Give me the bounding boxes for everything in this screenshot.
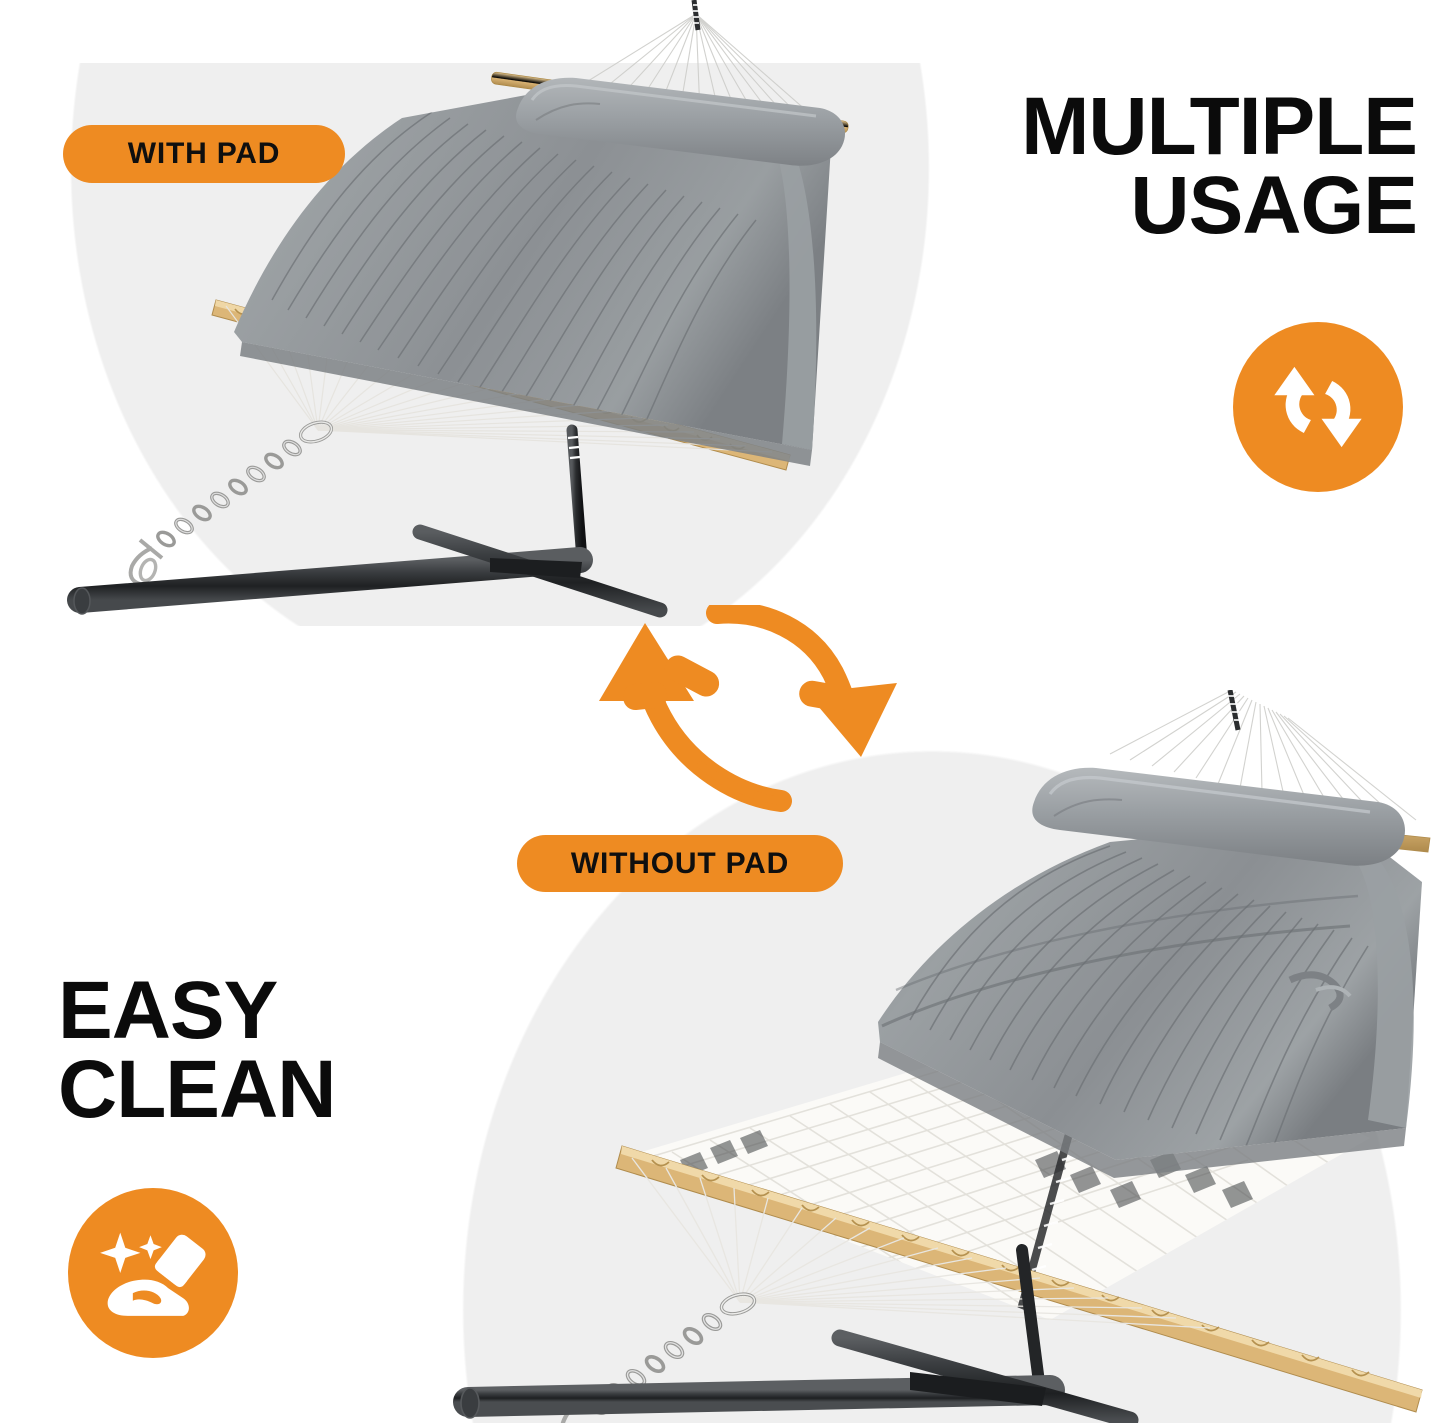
- easy-clean-heading-line1: EASY: [58, 972, 478, 1051]
- hammock-without-pad-image: [410, 690, 1445, 1423]
- multiple-usage-heading-line2: USAGE: [897, 167, 1417, 246]
- without-pad-badge-label: WITHOUT PAD: [571, 847, 789, 881]
- curved-arrow-down-right-icon: [717, 613, 897, 757]
- curved-arrow-up-left-icon: [599, 623, 781, 801]
- with-pad-badge: WITH PAD: [63, 125, 345, 183]
- easy-clean-heading: EASY CLEAN: [58, 972, 478, 1129]
- transition-arrows: [575, 605, 905, 820]
- refresh-cycle-icon: [1233, 322, 1403, 492]
- product-infographic-canvas: WITH PAD WITHOUT PAD MULTIPLE USAGE EASY…: [0, 0, 1445, 1423]
- without-pad-badge: WITHOUT PAD: [517, 835, 843, 892]
- easy-clean-heading-line2: CLEAN: [58, 1051, 478, 1130]
- multiple-usage-heading-line1: MULTIPLE: [897, 88, 1417, 167]
- multiple-usage-heading: MULTIPLE USAGE: [897, 88, 1417, 245]
- hand-wiping-sparkle-icon: [68, 1188, 238, 1358]
- hammock-with-pad-image: [20, 0, 930, 640]
- with-pad-badge-label: WITH PAD: [128, 137, 281, 171]
